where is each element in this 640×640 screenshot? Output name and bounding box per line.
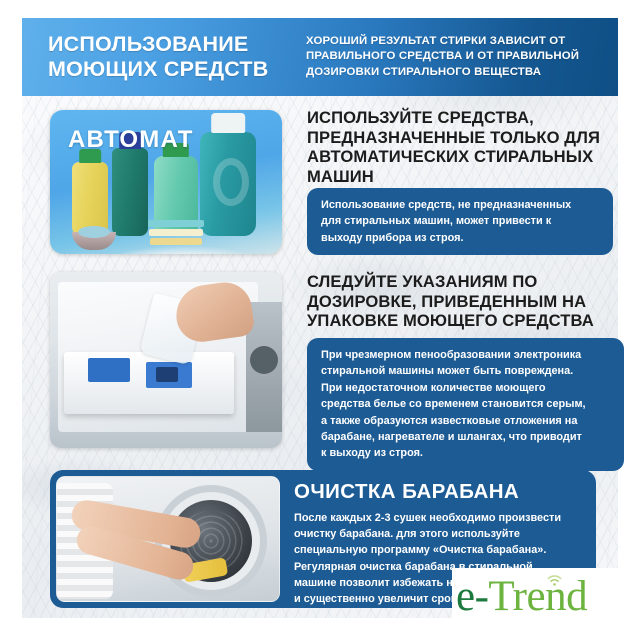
towel-shape bbox=[149, 229, 203, 236]
detergent-drawer-photo bbox=[50, 272, 282, 448]
section-1-heading: ИСПОЛЬЗУЙТЕ СРЕДСТВА, ПРЕДНАЗНАЧЕННЫЕ ТО… bbox=[307, 108, 622, 186]
logo-text: e-Trend bbox=[452, 575, 587, 618]
header-subtitle: ХОРОШИЙ РЕЗУЛЬТАТ СТИРКИ ЗАВИСИТ ОТ ПРАВ… bbox=[300, 34, 604, 81]
bottle-cap-shape bbox=[211, 113, 245, 133]
detergent-bottles-photo: АВТОМАТ bbox=[50, 110, 282, 254]
section-1-note: Использование средств, не предназначенны… bbox=[307, 188, 613, 255]
folded-towels-shape bbox=[148, 220, 206, 246]
drawer-compartment-shape bbox=[88, 358, 130, 382]
section-dosage-instructions: СЛЕДУЙТЕ УКАЗАНИЯМ ПО ДОЗИРОВКЕ, ПРИВЕДЕ… bbox=[22, 266, 618, 462]
towel-shape bbox=[150, 238, 202, 245]
section-2-note: При чрезмерном пенообразовании электрони… bbox=[307, 338, 624, 471]
drawer-compartment-shape bbox=[146, 362, 192, 388]
bottle-teal-dark-shape bbox=[112, 148, 148, 236]
bottle-large-teal-shape bbox=[200, 132, 256, 236]
section-3-heading: ОЧИСТКА БАРАБАНА bbox=[294, 480, 594, 504]
section-automatic-detergents: АВТОМАТ ИСПОЛЬЗУЙТЕ СРЕДСТВА, ПРЕДНАЗНАЧ… bbox=[22, 104, 618, 259]
infographic-page: ИСПОЛЬЗОВАНИЕ МОЮЩИХ СРЕДСТВ ХОРОШИЙ РЕЗ… bbox=[0, 0, 640, 640]
bottle-yellow-shape bbox=[72, 162, 108, 236]
wifi-icon bbox=[546, 574, 563, 587]
detergent-drawer-shape bbox=[64, 352, 234, 414]
header-banner: ИСПОЛЬЗОВАНИЕ МОЮЩИХ СРЕДСТВ ХОРОШИЙ РЕЗ… bbox=[22, 18, 618, 96]
section-2-heading: СЛЕДУЙТЕ УКАЗАНИЯМ ПО ДОЗИРОВКЕ, ПРИВЕДЕ… bbox=[307, 272, 627, 331]
brand-logo[interactable]: e-Trend bbox=[452, 568, 620, 624]
page-title: ИСПОЛЬЗОВАНИЕ МОЮЩИХ СРЕДСТВ bbox=[48, 32, 300, 82]
automat-label: АВТОМАТ bbox=[68, 126, 194, 154]
towel-shape bbox=[148, 220, 204, 227]
cleaning-drum-photo bbox=[56, 476, 280, 602]
logo-text-part1: e- bbox=[456, 573, 488, 620]
logo-text-part2: Trend bbox=[488, 573, 587, 620]
